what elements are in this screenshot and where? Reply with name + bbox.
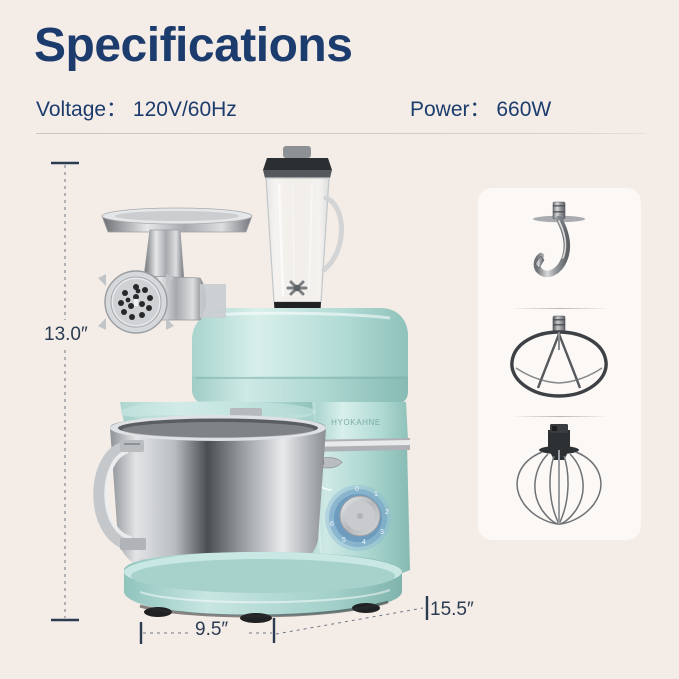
height-dimension-line: [51, 163, 79, 620]
height-label: 13.0″: [44, 324, 88, 346]
width-label: 9.5″: [195, 619, 228, 641]
dimension-annotations: 13.0″ 9.5″ 15.5″: [0, 0, 679, 679]
depth-label: 15.5″: [430, 599, 474, 621]
depth-dimension-line: [276, 596, 427, 634]
specifications-infographic: Specifications Voltage： 120V/60Hz Power：…: [0, 0, 679, 679]
